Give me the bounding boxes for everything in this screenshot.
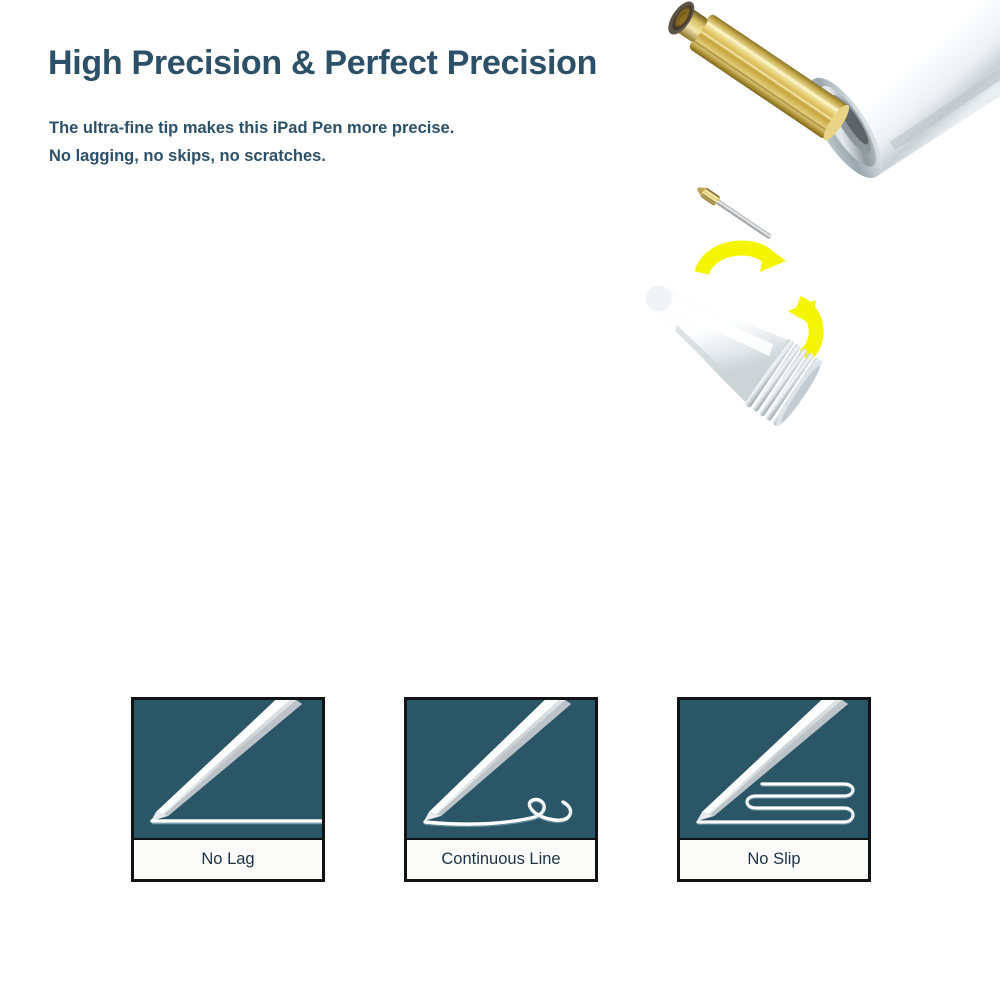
rotation-arrow-lower: [788, 300, 816, 356]
stylus-curved-line-icon: [407, 700, 595, 838]
page-subtitle: The ultra-fine tip makes this iPad Pen m…: [49, 114, 454, 170]
feature-caption: No Lag: [134, 838, 322, 879]
feature-panel-row: No Lag: [131, 697, 871, 882]
stylus-straight-line-icon: [134, 700, 322, 838]
brass-barrel-group: [662, 0, 853, 143]
rotation-arrow-upper: [702, 245, 786, 273]
stylus-zigzag-line-icon: [680, 700, 868, 838]
feature-panel-continuous-line[interactable]: Continuous Line: [404, 697, 598, 882]
feature-caption: No Slip: [680, 838, 868, 879]
product-hero-image: [520, 0, 1000, 520]
subtitle-line-1: The ultra-fine tip makes this iPad Pen m…: [49, 114, 454, 142]
subtitle-line-2: No lagging, no skips, no scratches.: [49, 142, 454, 170]
fine-pin-tip-group: [695, 184, 774, 242]
feature-panel-no-lag[interactable]: No Lag: [131, 697, 325, 882]
conical-tip-cap-group: [626, 258, 827, 429]
feature-caption: Continuous Line: [407, 838, 595, 879]
feature-panel-no-slip[interactable]: No Slip: [677, 697, 871, 882]
page-title: High Precision & Perfect Precision: [48, 44, 597, 83]
